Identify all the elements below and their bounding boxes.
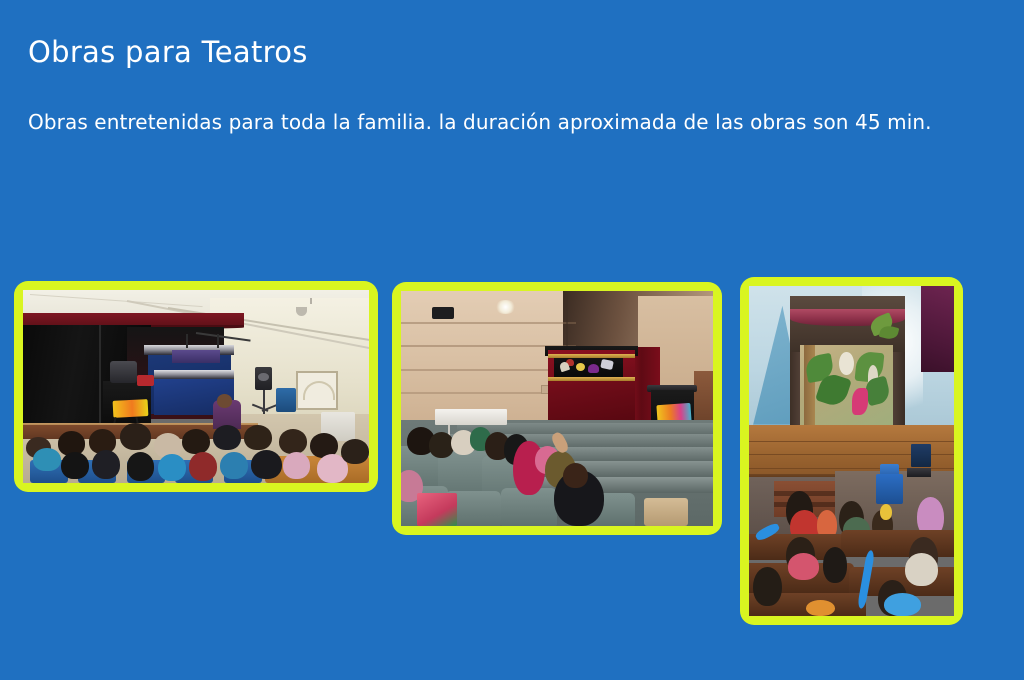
projector-unit (110, 361, 138, 382)
blue-trash-bin (276, 388, 297, 411)
page-title: Obras para Teatros (28, 34, 968, 70)
audience-person (823, 547, 848, 583)
audience-child (251, 450, 282, 479)
booth-gold-trim-bottom (548, 377, 635, 381)
backdrop-flower (852, 388, 868, 414)
audience-child (120, 423, 151, 450)
audience-person (806, 600, 835, 617)
audience-person (905, 553, 938, 586)
audience-child (127, 452, 155, 481)
stage-rigging-rod-b (217, 334, 219, 348)
wooden-seat-edge (644, 498, 688, 526)
audience-child (61, 452, 89, 479)
stage-plank-line (749, 441, 954, 442)
red-prop-box (137, 375, 154, 387)
backdrop-seam (99, 325, 101, 429)
audience-child (92, 450, 120, 479)
audience-child (283, 452, 311, 479)
audience-person (884, 593, 921, 616)
audience-person (563, 463, 588, 489)
slide-body-text: Obras entretenidas para toda la familia.… (28, 107, 986, 137)
backdrop-figure (839, 352, 853, 375)
booth-gold-trim-top (548, 354, 635, 358)
laptop-on-table (911, 444, 932, 467)
audience-person (788, 553, 819, 579)
audience-child (182, 429, 210, 454)
photo-frame-3[interactable] (740, 277, 963, 625)
wall-panel-seam (401, 369, 569, 371)
slide-canvas: Obras para Teatros Obras entretenidas pa… (0, 0, 1024, 680)
adult-head (217, 394, 233, 408)
audience-child (33, 448, 61, 471)
stage-rail-lower (154, 370, 234, 379)
pa-speaker-cone (258, 373, 268, 381)
stage-curtain-right (921, 286, 954, 372)
photo-frame-1[interactable] (14, 281, 378, 492)
wall-panel-seam (401, 392, 563, 394)
photo-old-theater-balcony-view (749, 286, 954, 616)
audience-child (244, 425, 272, 450)
photo-theater-red-puppet-booth (401, 291, 713, 526)
audience-person (753, 567, 782, 607)
ceiling-lamp-stem (310, 298, 312, 304)
puppet-figure (576, 363, 585, 371)
wall-speaker (432, 307, 454, 319)
audience-child (279, 429, 307, 454)
audience-child (341, 439, 369, 464)
photo-school-gym-stage (23, 290, 369, 483)
av-equipment (907, 468, 932, 478)
side-door (694, 371, 713, 427)
photo-frame-2[interactable] (392, 282, 722, 535)
puppet-figure (588, 364, 599, 373)
stage-rigging-rod-a (186, 334, 188, 348)
audience-child (220, 452, 248, 479)
yellow-banner-sign (113, 399, 148, 418)
blue-prop-box (876, 474, 903, 504)
audience-child (158, 454, 186, 481)
pink-book-prop (417, 493, 458, 526)
stage-screen-panel (172, 350, 220, 364)
audience-child (213, 425, 241, 450)
white-table (435, 409, 507, 425)
wall-panel-seam (401, 322, 576, 324)
audience-child (189, 452, 217, 481)
